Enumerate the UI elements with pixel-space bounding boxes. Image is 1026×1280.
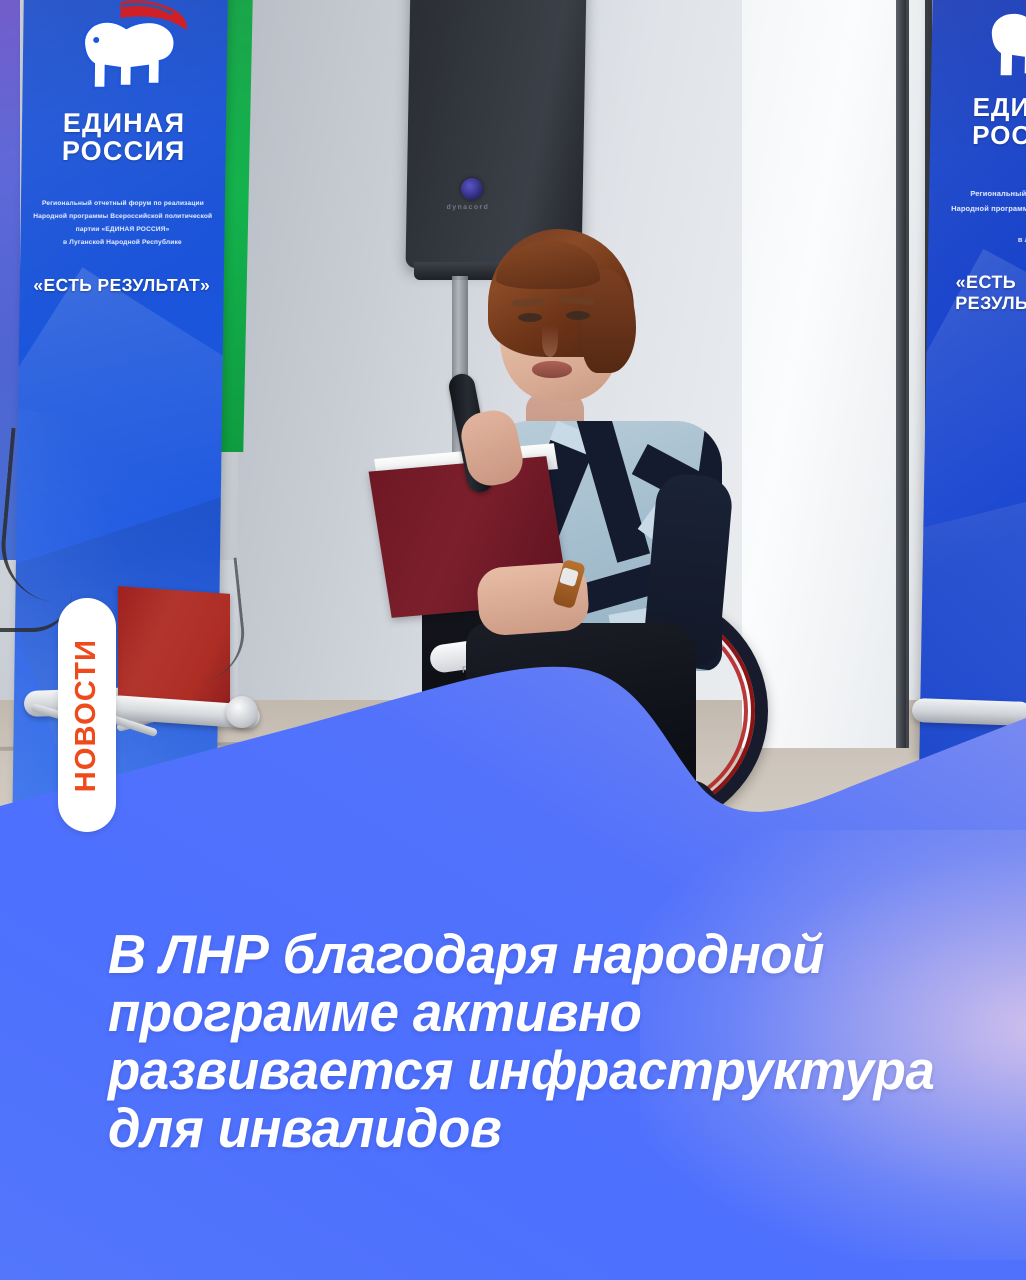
presentation-board-edge (896, 0, 906, 748)
headline-line-4: для инвалидов (108, 1099, 962, 1157)
speaker-person (430, 225, 730, 715)
rollup-banner-right: ЕДИНАЯ РОССИЯ Региональный отчетный фору… (919, 0, 1026, 760)
presentation-board (742, 0, 909, 748)
banner-subtitle-line-3: партии «ЕДИНАЯ РОССИЯ» (76, 226, 170, 233)
banner-slogan: «ЕСТЬ РЕЗУЛЬТАТ» (33, 275, 210, 296)
mouth (532, 361, 572, 378)
banner-subtitle: Региональный отчетный форум по реализаци… (32, 198, 213, 249)
banner-subtitle-line-4: в Луганской Народной Республике (1018, 235, 1026, 244)
logo-title-line-2: РОССИЯ (972, 120, 1026, 150)
loudspeaker-logo-icon (461, 178, 483, 200)
blouse-pattern-shape (576, 421, 650, 563)
news-category-label: НОВОСТИ (71, 638, 104, 791)
banner-logo-title: ЕДИНАЯ РОССИЯ (972, 94, 1026, 149)
nose (542, 325, 558, 357)
logo-title-line-1: ЕДИНАЯ (972, 92, 1026, 122)
banner-subtitle-line-2: Народной программы Всероссийской политич… (33, 213, 212, 220)
banner-subtitle-line-1: Региональный отчетный форум по реализаци… (42, 200, 204, 207)
banner-logo-title: ЕДИНАЯ РОССИЯ (62, 110, 186, 165)
bear-emblem-icon (969, 0, 1026, 90)
headline-line-2: программе активно (108, 983, 962, 1041)
eye-left (518, 313, 542, 322)
united-russia-logo: ЕДИНАЯ РОССИЯ Региональный отчетный фору… (20, 0, 228, 296)
rollup-base-right (912, 698, 1026, 726)
headline: В ЛНР благодаря народной программе актив… (108, 925, 962, 1157)
eye-right (566, 311, 590, 320)
headline-line-1: В ЛНР благодаря народной (108, 925, 962, 983)
logo-title-line-2: РОССИЯ (62, 136, 186, 166)
bear-emblem-icon (59, 0, 190, 104)
bear-icon (59, 0, 190, 104)
headline-line-3: развивается инфраструктура (108, 1041, 962, 1099)
banner-slogan: «ЕСТЬ РЕЗУЛЬТАТ» (955, 272, 1026, 314)
news-category-badge[interactable]: НОВОСТИ (58, 598, 116, 832)
red-banner-base-cap (226, 696, 258, 728)
loudspeaker-brand-label: dynacord (446, 204, 489, 211)
skirt (466, 623, 696, 795)
banner-subtitle: Региональный отчетный форум по реализаци… (950, 186, 1026, 247)
news-card: dynacord ЕДИНАЯ (0, 0, 1026, 1280)
banner-subtitle-line-2: Народной программы Всероссийской политич… (951, 204, 1026, 213)
banner-subtitle-line-4: в Луганской Народной Республике (63, 239, 182, 246)
banner-subtitle-line-1: Региональный отчетный форум по реализаци… (970, 189, 1026, 198)
logo-title-line-1: ЕДИНАЯ (63, 108, 186, 138)
